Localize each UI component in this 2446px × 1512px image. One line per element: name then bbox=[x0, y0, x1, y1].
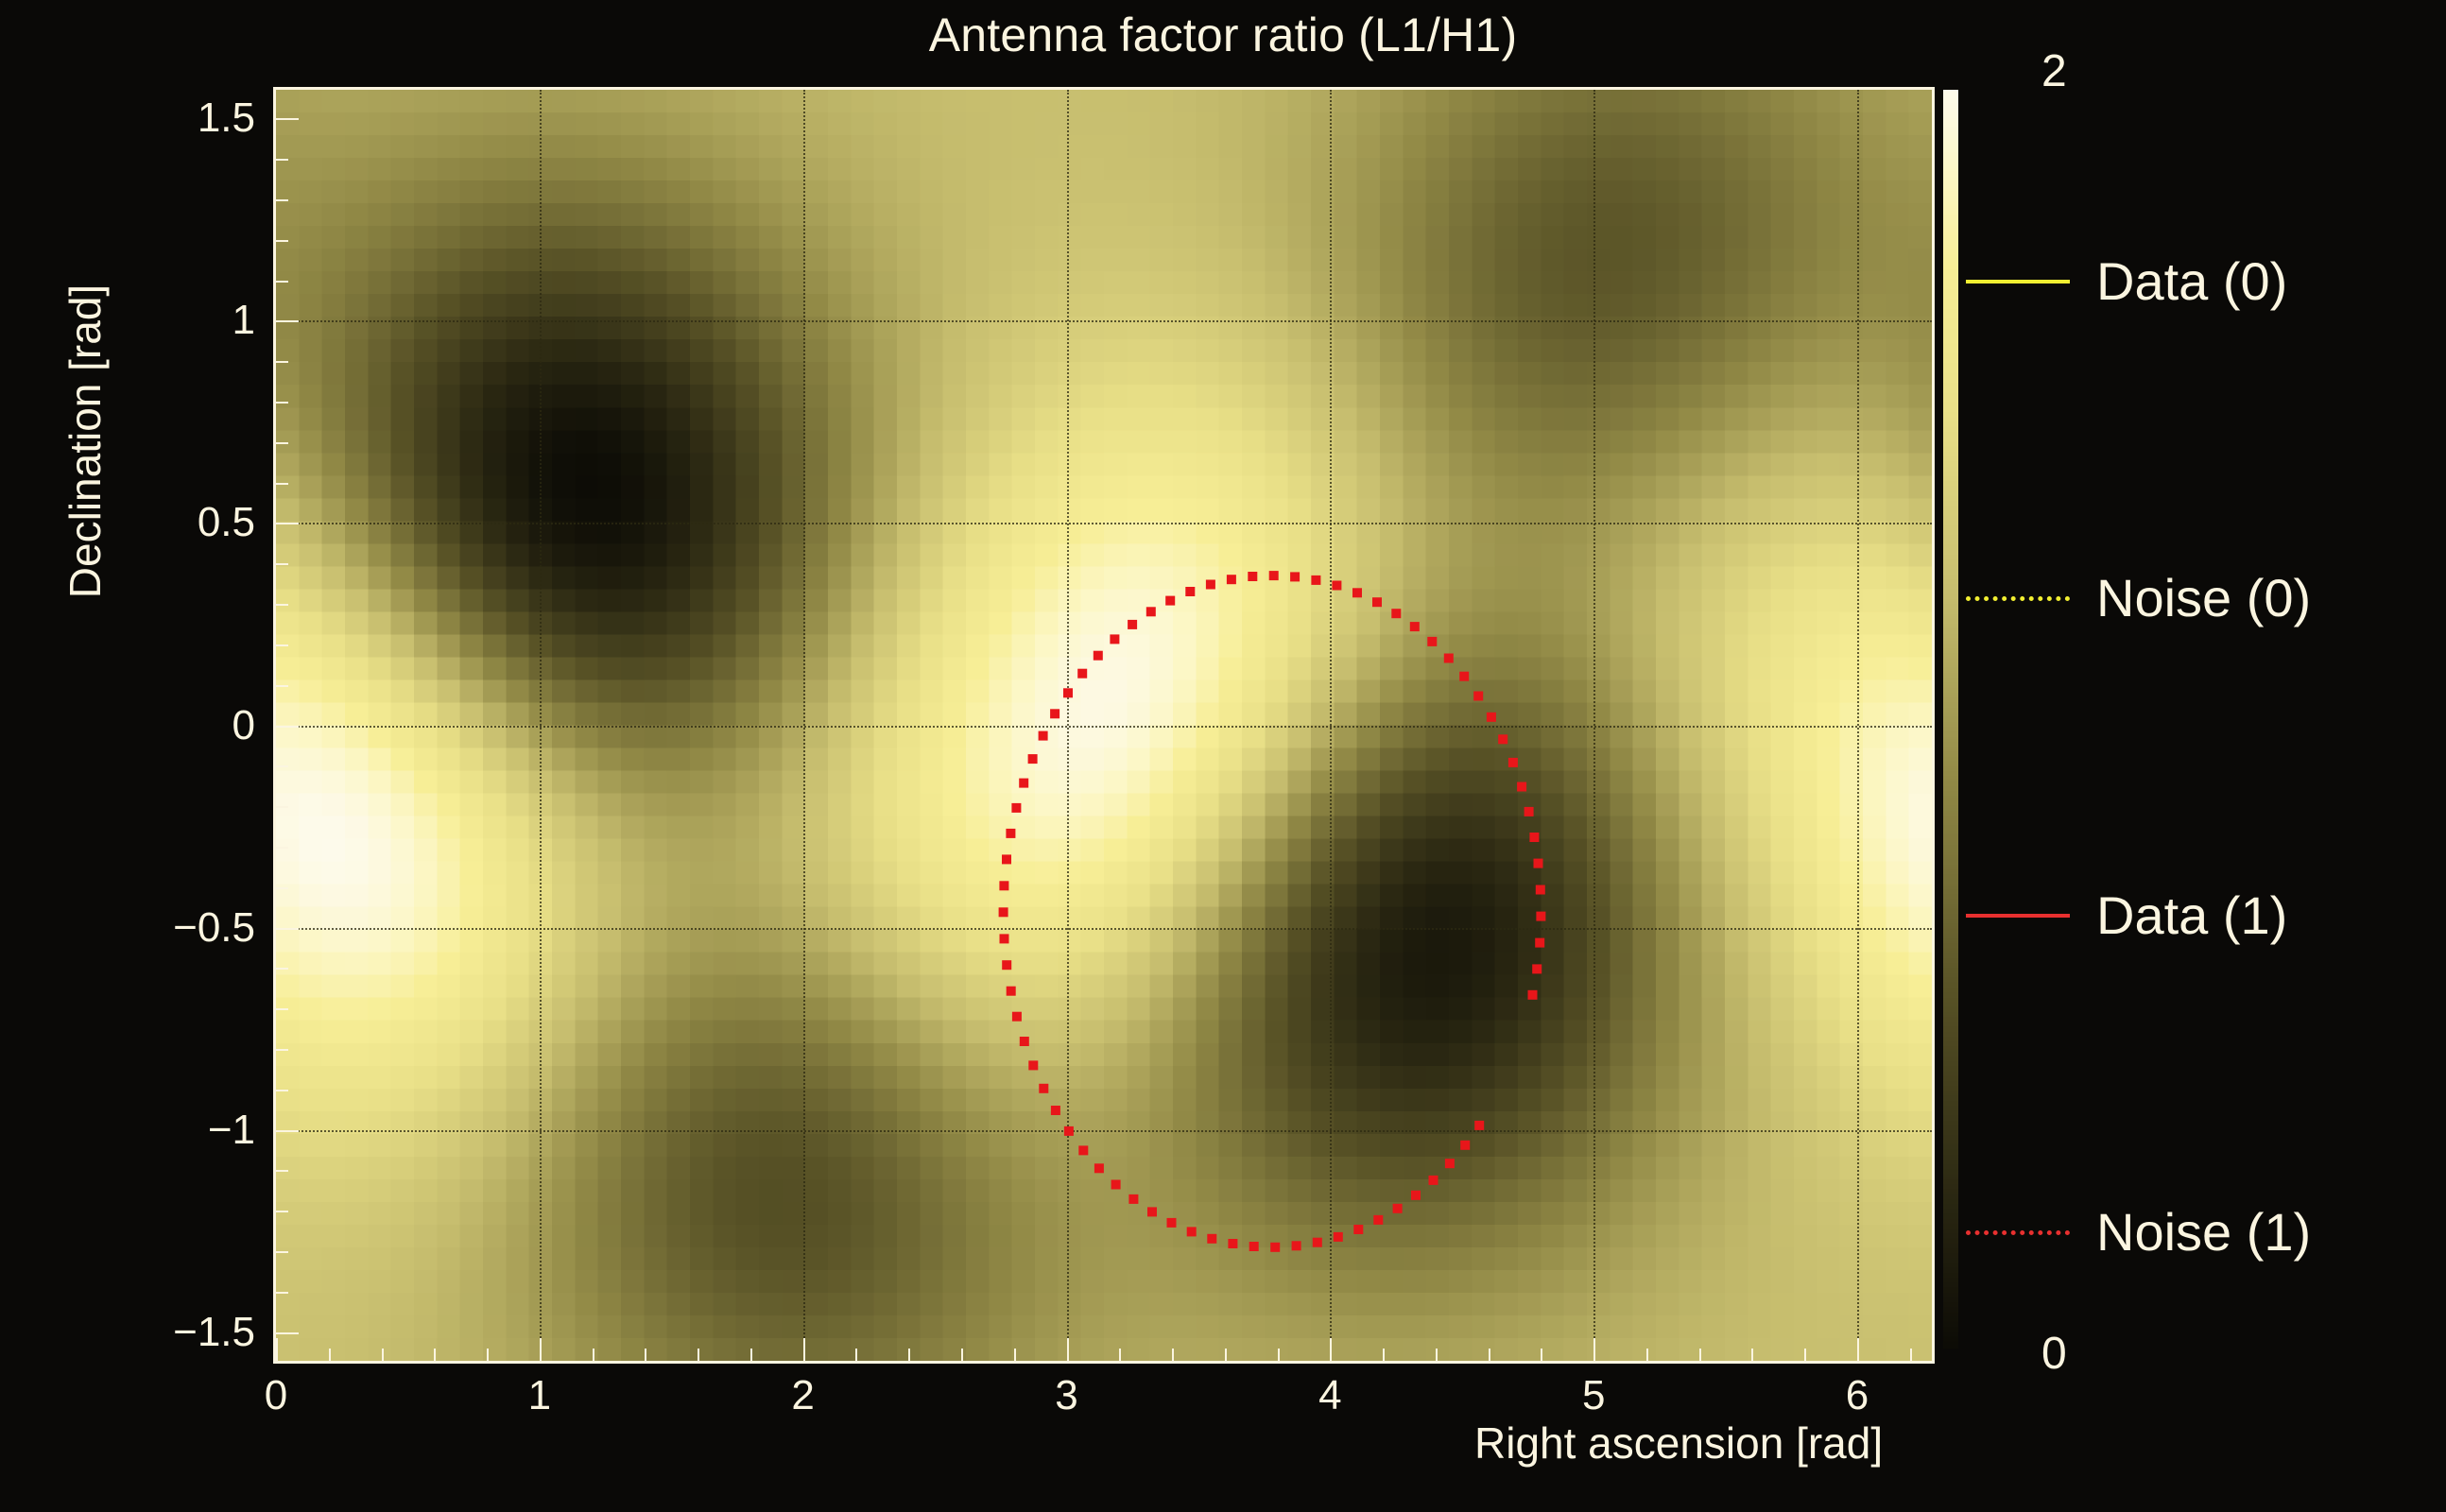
x-tick-major bbox=[1067, 1338, 1069, 1361]
colorbar-tick-label-top: 2 bbox=[2041, 45, 2067, 97]
x-tick-major bbox=[276, 1338, 278, 1361]
y-tick-minor bbox=[276, 1292, 288, 1294]
x-tick-major bbox=[1330, 1338, 1332, 1361]
heatmap-image bbox=[276, 90, 1932, 1361]
y-tick-minor bbox=[276, 644, 288, 646]
y-tick-major bbox=[276, 118, 299, 120]
y-tick-minor bbox=[276, 1049, 288, 1051]
y-tick-label: −1 bbox=[104, 1107, 255, 1154]
y-tick-major bbox=[276, 320, 299, 322]
x-tick-label: 1 bbox=[528, 1372, 551, 1419]
legend-entry-noise-1[interactable]: Noise (1) bbox=[1966, 1204, 2311, 1261]
chart-canvas: Antenna factor ratio (L1/H1) 0123456 1.5… bbox=[0, 0, 2446, 1512]
x-tick-minor bbox=[1646, 1349, 1648, 1361]
y-tick-minor bbox=[276, 1251, 288, 1253]
x-tick-minor bbox=[1910, 1349, 1912, 1361]
y-tick-minor bbox=[276, 1090, 288, 1091]
x-tick-minor bbox=[908, 1349, 910, 1361]
x-tick-label: 6 bbox=[1846, 1372, 1869, 1419]
legend[interactable]: Data (0)Noise (0)Data (1)Noise (1) bbox=[1966, 113, 2438, 1361]
y-tick-minor bbox=[276, 604, 288, 606]
legend-label: Data (1) bbox=[2096, 889, 2287, 942]
x-tick-minor bbox=[1699, 1349, 1701, 1361]
y-tick-minor bbox=[276, 442, 288, 444]
x-tick-minor bbox=[1383, 1349, 1385, 1361]
y-tick-minor bbox=[276, 240, 288, 242]
x-tick-minor bbox=[434, 1349, 436, 1361]
x-tick-major bbox=[803, 1338, 805, 1361]
heatmap-plot-area[interactable] bbox=[276, 90, 1932, 1361]
x-tick-minor bbox=[593, 1349, 594, 1361]
y-tick-minor bbox=[276, 402, 288, 404]
legend-label: Noise (0) bbox=[2096, 572, 2311, 625]
x-tick-minor bbox=[1014, 1349, 1016, 1361]
x-tick-label: 4 bbox=[1318, 1372, 1341, 1419]
x-tick-label: 3 bbox=[1055, 1372, 1077, 1419]
y-tick-major bbox=[276, 523, 299, 524]
y-tick-major bbox=[276, 1332, 299, 1334]
legend-label: Data (0) bbox=[2096, 255, 2287, 308]
legend-key-line-icon bbox=[1966, 596, 2070, 601]
legend-key-line-icon bbox=[1966, 280, 2070, 283]
x-tick-minor bbox=[1489, 1349, 1490, 1361]
y-tick-label: −1.5 bbox=[104, 1309, 255, 1356]
y-tick-label: 0 bbox=[104, 702, 255, 749]
x-tick-minor bbox=[1172, 1349, 1174, 1361]
y-tick-major bbox=[276, 726, 299, 728]
x-tick-minor bbox=[1119, 1349, 1121, 1361]
y-tick-minor bbox=[276, 199, 288, 201]
y-tick-label: −0.5 bbox=[104, 904, 255, 952]
y-tick-minor bbox=[276, 281, 288, 283]
x-tick-major bbox=[1593, 1338, 1595, 1361]
x-tick-minor bbox=[1225, 1349, 1227, 1361]
y-tick-minor bbox=[276, 806, 288, 808]
y-tick-minor bbox=[276, 361, 288, 363]
x-tick-minor bbox=[961, 1349, 963, 1361]
x-tick-minor bbox=[329, 1349, 331, 1361]
x-tick-label: 0 bbox=[265, 1372, 287, 1419]
y-tick-minor bbox=[276, 685, 288, 687]
y-tick-minor bbox=[276, 765, 288, 767]
x-axis-title: Right ascension [rad] bbox=[1474, 1417, 1883, 1469]
y-tick-minor bbox=[276, 847, 288, 849]
x-tick-minor bbox=[855, 1349, 857, 1361]
x-tick-minor bbox=[1278, 1349, 1280, 1361]
y-tick-minor bbox=[276, 1211, 288, 1212]
x-tick-label: 2 bbox=[791, 1372, 814, 1419]
x-tick-minor bbox=[487, 1349, 489, 1361]
x-tick-label: 5 bbox=[1582, 1372, 1605, 1419]
y-tick-label: 1 bbox=[104, 297, 255, 344]
y-tick-minor bbox=[276, 159, 288, 161]
y-tick-minor bbox=[276, 968, 288, 970]
legend-entry-noise-0[interactable]: Noise (0) bbox=[1966, 570, 2311, 627]
legend-entry-data-1[interactable]: Data (1) bbox=[1966, 887, 2287, 944]
y-tick-minor bbox=[276, 1008, 288, 1010]
y-axis-title: Declination [rad] bbox=[60, 243, 111, 640]
legend-entry-data-0[interactable]: Data (0) bbox=[1966, 253, 2287, 310]
x-tick-minor bbox=[382, 1349, 384, 1361]
x-tick-minor bbox=[750, 1349, 752, 1361]
x-tick-minor bbox=[645, 1349, 646, 1361]
x-tick-major bbox=[1857, 1338, 1859, 1361]
y-tick-major bbox=[276, 928, 299, 930]
legend-key-line-icon bbox=[1966, 914, 2070, 918]
chart-title: Antenna factor ratio (L1/H1) bbox=[0, 8, 2446, 62]
x-tick-minor bbox=[1436, 1349, 1438, 1361]
y-tick-minor bbox=[276, 563, 288, 565]
colorbar-gradient bbox=[1943, 90, 1958, 1349]
legend-label: Noise (1) bbox=[2096, 1206, 2311, 1259]
y-tick-label: 1.5 bbox=[104, 94, 255, 142]
x-tick-minor bbox=[1751, 1349, 1753, 1361]
x-tick-major bbox=[540, 1338, 542, 1361]
y-tick-label: 0.5 bbox=[104, 499, 255, 546]
colorbar bbox=[1943, 90, 1958, 1349]
x-tick-minor bbox=[1541, 1349, 1542, 1361]
legend-key-line-icon bbox=[1966, 1230, 2070, 1235]
y-tick-minor bbox=[276, 1170, 288, 1172]
x-tick-minor bbox=[1804, 1349, 1806, 1361]
y-tick-minor bbox=[276, 887, 288, 889]
x-tick-minor bbox=[698, 1349, 699, 1361]
y-tick-major bbox=[276, 1130, 299, 1132]
y-tick-minor bbox=[276, 483, 288, 485]
